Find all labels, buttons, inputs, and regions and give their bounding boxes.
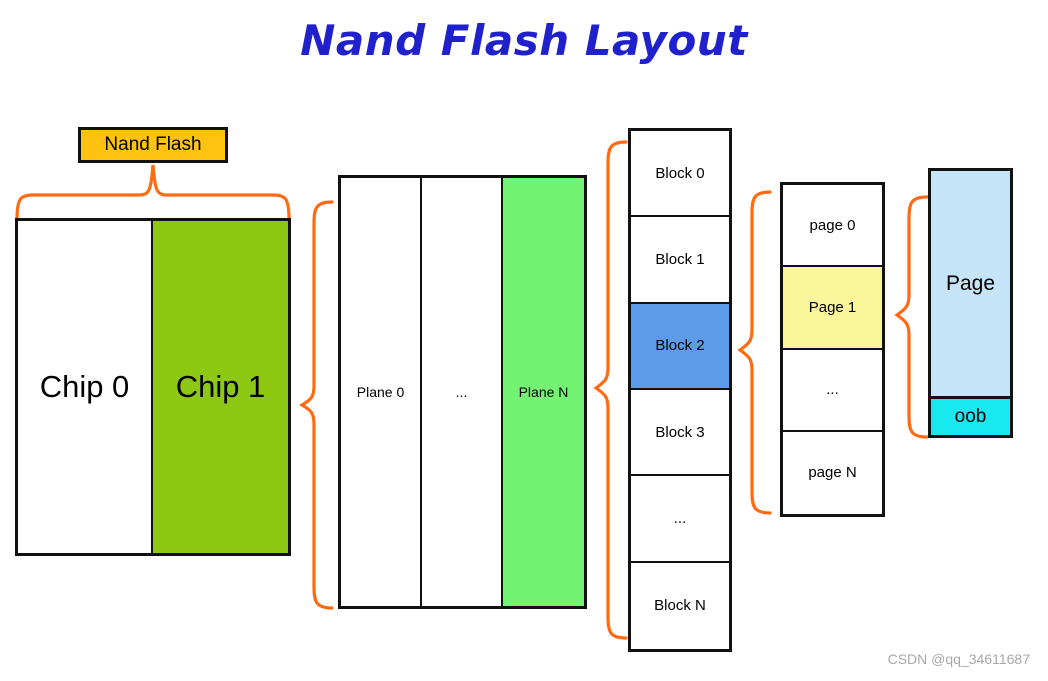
page-cell-0-label: page 0 — [810, 217, 856, 234]
chip-cell-1-label: Chip 1 — [176, 369, 266, 405]
block-cell-ellipsis[interactable]: ... — [631, 476, 729, 562]
page-cell-n[interactable]: page N — [783, 432, 882, 514]
block-cell-2-label: Block 2 — [655, 337, 704, 354]
page-cell-1[interactable]: Page 1 — [783, 267, 882, 349]
block-cell-0-label: Block 0 — [655, 165, 704, 182]
plane-cell-0[interactable]: Plane 0 — [341, 178, 422, 606]
brace-page-to-page-detail — [895, 195, 929, 439]
nand-flash-tag: Nand Flash — [78, 127, 228, 163]
page-group: page 0 Page 1 ... page N — [780, 182, 885, 517]
plane-cell-n[interactable]: Plane N — [503, 178, 584, 606]
page-detail-oob[interactable]: oob — [931, 399, 1010, 435]
watermark: CSDN @qq_34611687 — [888, 651, 1030, 667]
page-cell-0[interactable]: page 0 — [783, 185, 882, 267]
page-detail-group: Page oob — [928, 168, 1013, 438]
page-cell-ellipsis[interactable]: ... — [783, 350, 882, 432]
block-cell-ellipsis-label: ... — [674, 510, 687, 527]
chip-group: Chip 0 Chip 1 — [15, 218, 291, 556]
plane-cell-0-label: Plane 0 — [357, 384, 404, 400]
block-cell-3-label: Block 3 — [655, 424, 704, 441]
block-cell-1-label: Block 1 — [655, 251, 704, 268]
plane-cell-n-label: Plane N — [519, 384, 569, 400]
nand-flash-tag-label: Nand Flash — [104, 134, 201, 156]
brace-block-to-pages — [738, 190, 772, 515]
page-detail-body[interactable]: Page — [931, 171, 1010, 399]
page-cell-n-label: page N — [808, 464, 856, 481]
plane-cell-ellipsis-label: ... — [456, 384, 468, 400]
brace-nand-to-chips — [15, 163, 291, 221]
page-detail-oob-label: oob — [955, 406, 987, 428]
page-title: Nand Flash Layout — [0, 16, 1048, 65]
chip-cell-1[interactable]: Chip 1 — [153, 221, 288, 553]
block-cell-n[interactable]: Block N — [631, 563, 729, 649]
brace-plane-to-blocks — [594, 140, 628, 640]
block-cell-0[interactable]: Block 0 — [631, 131, 729, 217]
diagram-canvas: Nand Flash Layout Nand Flash Chip 0 Chip… — [0, 0, 1048, 681]
chip-cell-0-label: Chip 0 — [40, 369, 130, 405]
page-cell-1-label: Page 1 — [809, 299, 857, 316]
block-cell-1[interactable]: Block 1 — [631, 217, 729, 303]
plane-cell-ellipsis[interactable]: ... — [422, 178, 503, 606]
block-group: Block 0 Block 1 Block 2 Block 3 ... Bloc… — [628, 128, 732, 652]
chip-cell-0[interactable]: Chip 0 — [18, 221, 153, 553]
page-detail-body-label: Page — [946, 272, 995, 296]
page-cell-ellipsis-label: ... — [826, 381, 839, 398]
brace-chip-to-planes — [300, 200, 334, 610]
block-cell-n-label: Block N — [654, 597, 706, 614]
block-cell-2[interactable]: Block 2 — [631, 304, 729, 390]
plane-group: Plane 0 ... Plane N — [338, 175, 587, 609]
block-cell-3[interactable]: Block 3 — [631, 390, 729, 476]
